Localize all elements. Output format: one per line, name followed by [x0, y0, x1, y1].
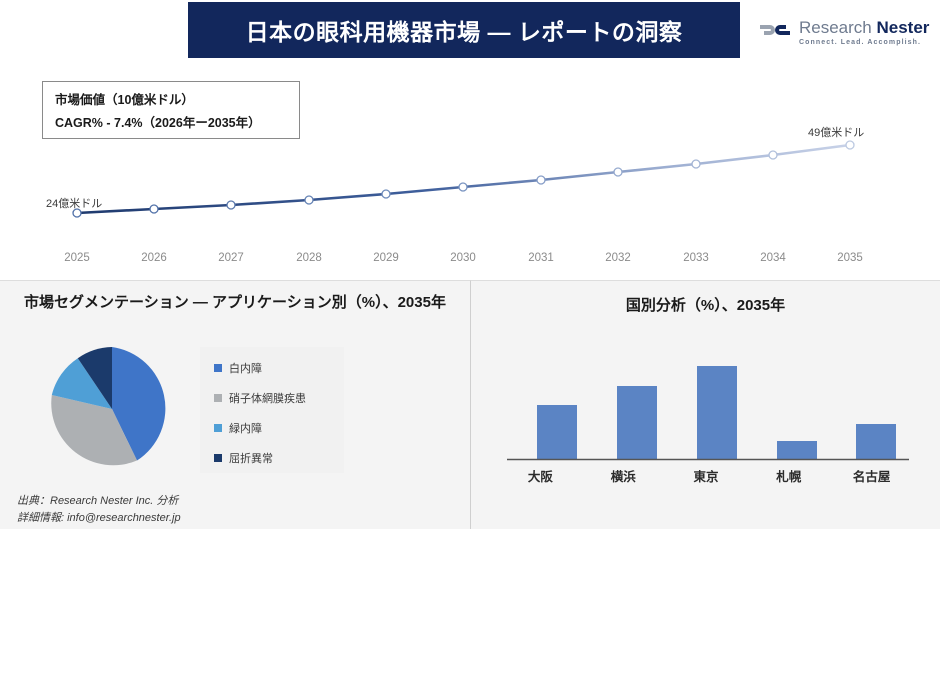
x-tick-2025: 2025: [45, 252, 109, 264]
bar-label-nagoya: 名古屋: [830, 466, 913, 485]
legend-item-cataract[interactable]: 白内障: [214, 353, 344, 383]
bar-chart-category-labels: 大阪 横浜 東京 札幌 名古屋: [499, 466, 913, 485]
legend-item-glaucoma[interactable]: 緑内障: [214, 413, 344, 443]
pie-chart-title: 市場セグメンテーション ― アプリケーション別（%）、2035年: [0, 291, 470, 314]
x-tick-2034: 2034: [741, 252, 805, 264]
pie-data-label: 43.4%: [120, 668, 148, 679]
line-series-market-value: [77, 145, 850, 213]
contact-line: 詳細情報: info@researchnester.jp: [17, 510, 181, 527]
bar-tokyo[interactable]: [697, 366, 737, 459]
legend-label-refractive: 屈折異常: [229, 450, 273, 466]
pie-chart-svg: [48, 345, 176, 473]
x-tick-2032: 2032: [586, 252, 650, 264]
line-chart-svg: [0, 62, 940, 280]
bar-label-yokohama: 横浜: [582, 466, 665, 485]
legend-item-vitreoretinal[interactable]: 硝子体網膜疾患: [214, 383, 344, 413]
legend-label-glaucoma: 緑内障: [229, 420, 262, 436]
x-tick-2035: 2035: [818, 252, 882, 264]
brand-logo: Research Nester Connect. Lead. Accomplis…: [758, 14, 934, 50]
bar-sapporo[interactable]: [777, 441, 817, 459]
research-nester-logo-icon: [758, 18, 792, 47]
legend-swatch-icon-vitreoretinal: [214, 394, 222, 402]
segmentation-pie-panel: 市場セグメンテーション ― アプリケーション別（%）、2035年 43.4% 白…: [0, 280, 470, 529]
x-tick-2029: 2029: [354, 252, 418, 264]
legend-swatch-icon-cataract: [214, 364, 222, 372]
legend-label-cataract: 白内障: [229, 360, 262, 376]
x-tick-2031: 2031: [509, 252, 573, 264]
line-chart-x-axis: 2025 2026 2027 2028 2029 2030 2031 2032 …: [0, 252, 940, 276]
bar-label-sapporo: 札幌: [747, 466, 830, 485]
x-tick-2028: 2028: [277, 252, 341, 264]
bar-nagoya[interactable]: [856, 424, 896, 459]
source-line: 出典：Research Nester Inc. 分析: [17, 493, 181, 510]
logo-name-second: Nester: [877, 18, 930, 37]
bar-chart-svg: [499, 351, 913, 463]
country-analysis-bar-panel: 国別分析（%）、2035年 大阪 横浜 東京 札幌 名古屋: [470, 280, 940, 529]
line-end-value-label: 49億米ドル: [808, 124, 864, 140]
bar-osaka[interactable]: [537, 405, 577, 459]
logo-tagline: Connect. Lead. Accomplish.: [799, 39, 929, 46]
title-banner: 日本の眼科用機器市場 ― レポートの洞察: [188, 2, 740, 58]
legend-item-refractive[interactable]: 屈折異常: [214, 443, 344, 473]
line-start-value-label: 24億米ドル: [46, 195, 102, 211]
x-tick-2027: 2027: [199, 252, 263, 264]
logo-name: Research Nester: [799, 19, 929, 36]
logo-name-first: Research: [799, 18, 872, 37]
legend-label-vitreoretinal: 硝子体網膜疾患: [229, 390, 306, 406]
bottom-charts-row: 市場セグメンテーション ― アプリケーション別（%）、2035年 43.4% 白…: [0, 280, 940, 529]
logo-wordmark: Research Nester Connect. Lead. Accomplis…: [799, 19, 929, 46]
bar-label-tokyo: 東京: [665, 466, 748, 485]
x-tick-2030: 2030: [431, 252, 495, 264]
bar-chart-title: 国別分析（%）、2035年: [471, 294, 940, 317]
line-markers: [73, 141, 854, 217]
legend-swatch-icon-glaucoma: [214, 424, 222, 432]
page-header: 日本の眼科用機器市場 ― レポートの洞察 Research Nester Con…: [0, 0, 940, 62]
x-tick-2033: 2033: [664, 252, 728, 264]
x-tick-2026: 2026: [122, 252, 186, 264]
page-title: 日本の眼科用機器市場 ― レポートの洞察: [246, 13, 683, 47]
legend-swatch-icon-refractive: [214, 454, 222, 462]
bar-label-osaka: 大阪: [499, 466, 582, 485]
pie-legend: 白内障 硝子体網膜疾患 緑内障 屈折異常: [200, 347, 344, 473]
market-value-line-chart: 市場価値（10億米ドル） CAGR% - 7.4%（2026年ー2035年）: [0, 62, 940, 280]
bar-yokohama[interactable]: [617, 386, 657, 459]
source-footer: 出典：Research Nester Inc. 分析 詳細情報: info@re…: [17, 493, 181, 526]
